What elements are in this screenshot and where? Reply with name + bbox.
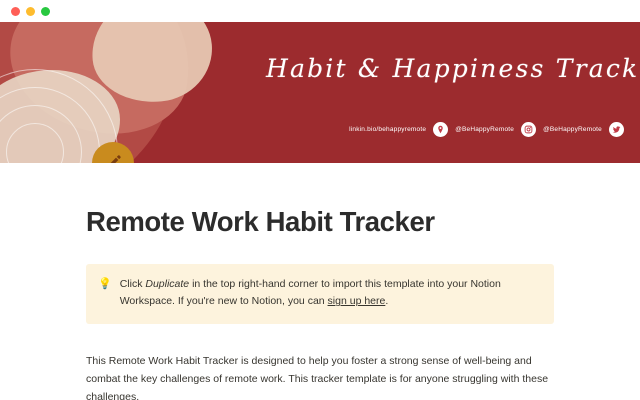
callout-text-part1: Click: [120, 278, 146, 290]
page-title: Remote Work Habit Tracker: [86, 206, 554, 238]
banner-link-text-twitter: @BeHappyRemote: [543, 126, 602, 133]
callout-text: Click Duplicate in the top right-hand co…: [120, 276, 540, 311]
banner-link-text-instagram: @BeHappyRemote: [455, 126, 514, 133]
instagram-icon[interactable]: [521, 122, 536, 137]
sign-up-here-link[interactable]: sign up here: [328, 295, 386, 307]
close-window-button[interactable]: [11, 7, 20, 16]
browser-window: Habit & Happiness Trackers linkin.bio/be…: [0, 0, 640, 400]
lightbulb-icon: 💡: [98, 276, 112, 291]
banner-title: Habit & Happiness Trackers: [266, 54, 626, 83]
pencil-icon: [103, 153, 123, 163]
banner-link-text-bio: linkin.bio/behappyremote: [349, 126, 426, 133]
page-content: Remote Work Habit Tracker 💡 Click Duplic…: [0, 206, 640, 400]
window-titlebar: [0, 0, 640, 22]
page-cover-banner: Habit & Happiness Trackers linkin.bio/be…: [0, 22, 640, 163]
callout-text-part3: .: [385, 295, 388, 307]
intro-paragraph: This Remote Work Habit Tracker is design…: [86, 352, 554, 400]
location-pin-icon[interactable]: [433, 122, 448, 137]
maximize-window-button[interactable]: [41, 7, 50, 16]
banner-social-links: linkin.bio/behappyremote @BeHappyRemote …: [349, 122, 624, 137]
callout-emphasis-duplicate: Duplicate: [145, 278, 189, 290]
minimize-window-button[interactable]: [26, 7, 35, 16]
callout-block: 💡 Click Duplicate in the top right-hand …: [86, 264, 554, 324]
twitter-icon[interactable]: [609, 122, 624, 137]
